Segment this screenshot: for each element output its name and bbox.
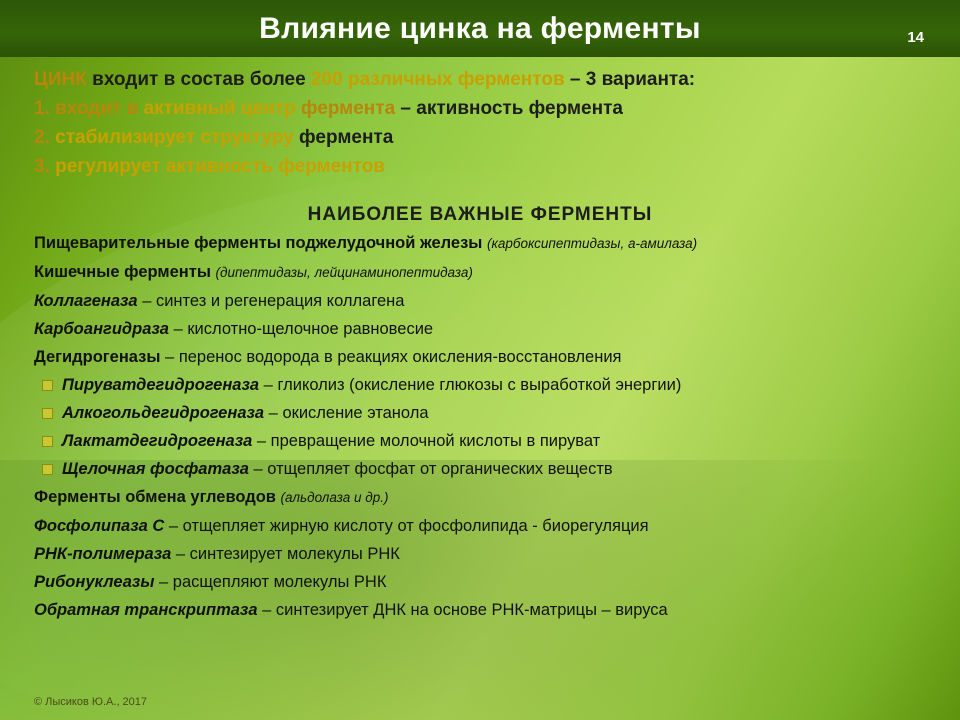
enzyme-note: (альдолаза и др.): [281, 490, 389, 505]
enzyme-name: Рибонуклеазы: [34, 573, 154, 591]
list-item: РНК-полимераза – синтезирует молекулы РН…: [34, 544, 934, 564]
intro-line-2: 1. входит в активный центр фермента – ак…: [34, 96, 934, 122]
enzyme-desc: – окисление этанола: [264, 404, 428, 422]
intro-line-4-num: 3.: [34, 156, 55, 177]
intro-line-1-zinc: ЦИНК: [34, 69, 87, 90]
enzyme-desc: – перенос водорода в реакциях окисления-…: [160, 348, 621, 366]
list-item: Карбоангидраза – кислотно-щелочное равно…: [34, 319, 934, 339]
enzyme-note: (карбоксипептидазы, a-амилаза): [487, 236, 697, 251]
intro-line-3-text: стабилизирует структуру: [55, 127, 294, 148]
enzyme-name: Карбоангидраза: [34, 320, 169, 338]
slide-number: 14: [907, 29, 924, 46]
list-item: Рибонуклеазы – расщепляют молекулы РНК: [34, 572, 934, 592]
enzyme-name: Лактатдегидрогеназа: [62, 432, 252, 450]
enzyme-note: (дипептидазы, лейцинаминопептидаза): [216, 265, 473, 280]
enzyme-list: Пищеварительные ферменты поджелудочной ж…: [34, 233, 934, 628]
intro-line-2-lead: входит в: [55, 98, 143, 119]
page-title: Влияние цинка на ферменты: [0, 12, 960, 46]
list-item: Алкогольдегидрогеназа – окисление этанол…: [34, 403, 934, 423]
intro-line-3-end: фермента: [294, 127, 394, 148]
slide-content: ЦИНК входит в состав более 200 различных…: [0, 57, 960, 720]
list-item: Кишечные ферменты (дипептидазы, лейцинам…: [34, 262, 934, 283]
enzyme-desc: – гликолиз (окисление глюкозы с выработк…: [259, 376, 681, 394]
intro-line-1-mid: входит в состав более: [87, 69, 311, 90]
enzyme-desc: – отщепляет фосфат от органических вещес…: [249, 460, 613, 478]
list-item: Пищеварительные ферменты поджелудочной ж…: [34, 233, 934, 254]
intro-line-1: ЦИНК входит в состав более 200 различных…: [34, 67, 934, 93]
copyright-note: © Лысиков Ю.А., 2017: [34, 696, 147, 708]
intro-line-4-text: регулирует активность ферментов: [55, 156, 385, 177]
enzyme-desc: – синтез и регенерация коллагена: [138, 292, 405, 310]
enzyme-desc: – отщепляет жирную кислоту от фосфолипид…: [164, 517, 648, 535]
section-title: НАИБОЛЕЕ ВАЖНЫЕ ФЕРМЕНТЫ: [0, 204, 960, 226]
intro-line-2-center: активный центр: [144, 98, 296, 119]
list-item: Фосфолипаза С – отщепляет жирную кислоту…: [34, 516, 934, 536]
enzyme-desc: – синтезирует молекулы РНК: [171, 545, 400, 563]
list-item: Коллагеназа – синтез и регенерация колла…: [34, 291, 934, 311]
list-item: Щелочная фосфатаза – отщепляет фосфат от…: [34, 459, 934, 479]
intro-line-2-num: 1.: [34, 98, 55, 119]
square-bullet-icon: [42, 464, 53, 475]
intro-line-3-num: 2.: [34, 127, 55, 148]
list-item: Лактатдегидрогеназа – превращение молочн…: [34, 431, 934, 451]
intro-line-2-enzyme: фермента: [296, 98, 396, 119]
enzyme-name: Коллагеназа: [34, 292, 138, 310]
enzyme-name: Ферменты обмена углеводов: [34, 488, 276, 506]
enzyme-name: Алкогольдегидрогеназа: [62, 404, 264, 422]
enzyme-name: Дегидрогеназы: [34, 348, 160, 366]
square-bullet-icon: [42, 408, 53, 419]
enzyme-name: Кишечные ферменты: [34, 263, 211, 281]
enzyme-name: Щелочная фосфатаза: [62, 460, 249, 478]
square-bullet-icon: [42, 380, 53, 391]
list-item: Обратная транскриптаза – синтезирует ДНК…: [34, 600, 934, 620]
enzyme-name: Пищеварительные ферменты поджелудочной ж…: [34, 234, 482, 252]
enzyme-name: РНК-полимераза: [34, 545, 171, 563]
enzyme-desc: – превращение молочной кислоты в пируват: [252, 432, 600, 450]
enzyme-name: Обратная транскриптаза: [34, 601, 258, 619]
intro-block: ЦИНК входит в состав более 200 различных…: [34, 67, 934, 183]
intro-line-1-end: – 3 варианта:: [565, 69, 696, 90]
intro-line-4: 3. регулирует активность ферментов: [34, 154, 934, 180]
enzyme-desc: – кислотно-щелочное равновесие: [169, 320, 433, 338]
list-item: Ферменты обмена углеводов (альдолаза и д…: [34, 487, 934, 508]
slide: Влияние цинка на ферменты 14 ЦИНК входит…: [0, 0, 960, 720]
enzyme-desc: – синтезирует ДНК на основе РНК-матрицы …: [258, 601, 668, 619]
intro-line-2-end: – активность фермента: [395, 98, 623, 119]
enzyme-name: Фосфолипаза С: [34, 517, 164, 535]
list-item: Дегидрогеназы – перенос водорода в реакц…: [34, 347, 934, 367]
enzyme-desc: – расщепляют молекулы РНК: [154, 573, 386, 591]
list-item: Пируватдегидрогеназа – гликолиз (окислен…: [34, 375, 934, 395]
intro-line-3: 2. стабилизирует структуру фермента: [34, 125, 934, 151]
square-bullet-icon: [42, 436, 53, 447]
enzyme-name: Пируватдегидрогеназа: [62, 376, 259, 394]
intro-line-1-count: 200 различных ферментов: [311, 69, 565, 90]
